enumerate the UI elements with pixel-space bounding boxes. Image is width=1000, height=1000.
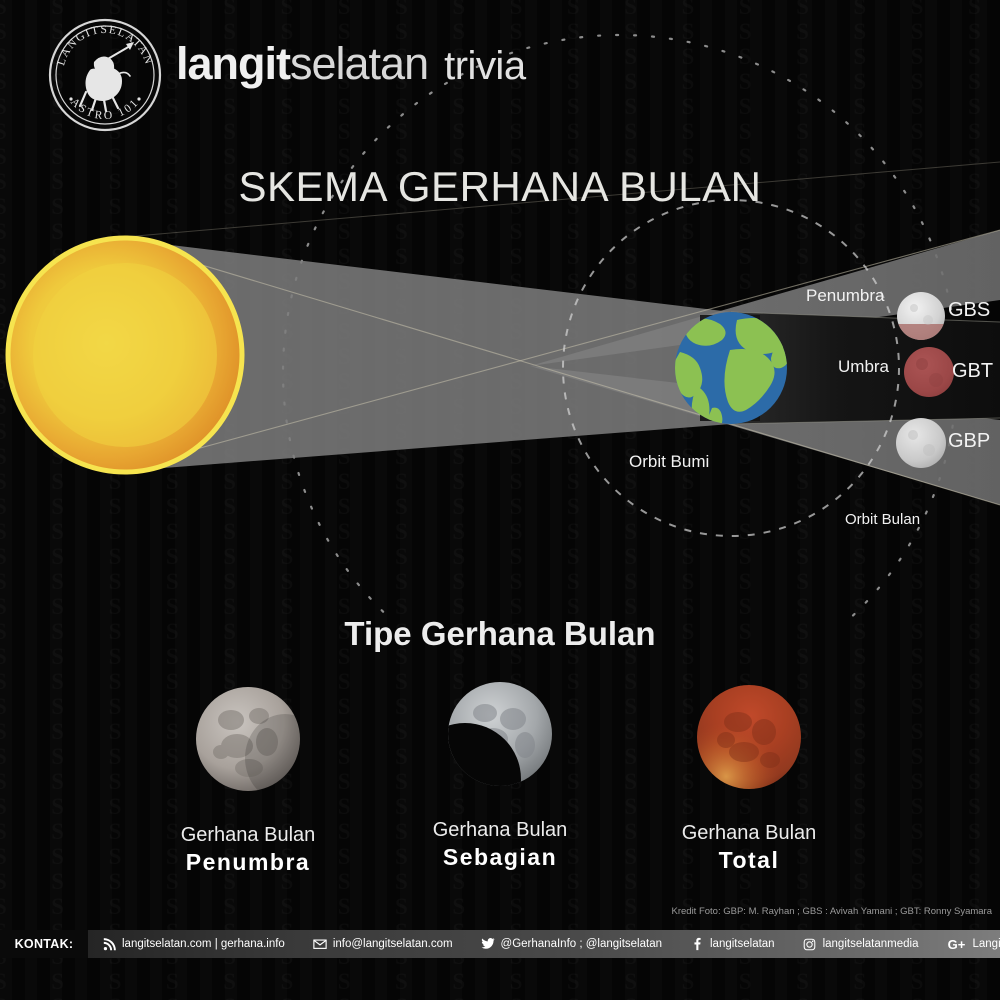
envelope-icon (313, 937, 327, 951)
label-gbs: GBS (948, 299, 990, 322)
rss-icon (102, 937, 116, 951)
centaur-icon (80, 42, 134, 111)
moon-gbp (896, 418, 946, 468)
label-gbp: GBP (948, 430, 990, 453)
infographic-page: S S S S S S S S S S S S S S S S S S S S … (0, 0, 1000, 1000)
footer-item-instagram[interactable]: langitselatanmedia (789, 930, 933, 958)
langitselatan-seal-logo: LANGITSELATAN ASTRO 101 (46, 16, 164, 134)
sun (8, 238, 242, 472)
card-caption-bottom: Sebagian (385, 844, 615, 871)
moon-gbt (904, 347, 954, 397)
footer-item-website[interactable]: langitselatan.com | gerhana.info (88, 930, 299, 958)
kontak-label: KONTAK: (0, 930, 88, 958)
label-orbit-bumi: Orbit Bumi (629, 452, 709, 472)
label-orbit-bulan: Orbit Bulan (845, 511, 920, 528)
card-caption-bottom: Penumbra (133, 849, 363, 876)
label-gbt: GBT (952, 360, 993, 383)
brand-bold: langit (176, 38, 290, 89)
card-caption-bottom: Total (634, 847, 864, 874)
moon-partial-photo (441, 675, 559, 793)
footer-item-text: @GerhanaInfo ; @langitselatan (501, 938, 662, 950)
brand-wordmark: langitselatantrivia (176, 38, 526, 90)
card-caption-top: Gerhana Bulan (133, 824, 363, 847)
header: LANGITSELATAN ASTRO 101 langitselatantr (0, 0, 1000, 140)
footer-item-email[interactable]: info@langitselatan.com (299, 930, 467, 958)
section-title-eclipse-types: Tipe Gerhana Bulan (0, 615, 1000, 653)
footer-item-text: langitselatan (710, 938, 775, 950)
eclipse-type-card-partial: Gerhana Bulan Sebagian (385, 675, 615, 871)
card-caption-top: Gerhana Bulan (385, 819, 615, 842)
watermark-row: S S S S S S S S S S S S S S S S S S S S … (0, 969, 1000, 994)
footer-item-text: LangitselatanMedia (972, 938, 1000, 950)
googleplus-icon: G+ (946, 937, 966, 951)
eclipse-type-card-penumbral: Gerhana Bulan Penumbra (133, 680, 363, 876)
page-title: SKEMA GERHANA BULAN (0, 163, 1000, 211)
contact-footer-bar: KONTAK: langitselatan.com | gerhana.info… (0, 930, 1000, 958)
eclipse-type-card-total: Gerhana Bulan Total (634, 678, 864, 874)
footer-item-googleplus[interactable]: G+ LangitselatanMedia (932, 930, 1000, 958)
twitter-icon (481, 937, 495, 951)
brand-light: selatan (290, 38, 428, 89)
label-umbra: Umbra (838, 357, 889, 377)
footer-item-text: langitselatanmedia (823, 938, 919, 950)
moon-total-photo (690, 678, 808, 796)
watermark-row: S S S S S S S S S S S S S S S S S S S S … (0, 994, 1000, 1000)
footer-item-facebook[interactable]: langitselatan (676, 930, 789, 958)
brand-section: trivia (444, 44, 525, 88)
moon-penumbral-photo (189, 680, 307, 798)
photo-credit: Kredit Foto: GBP: M. Rayhan ; GBS : Aviv… (672, 906, 993, 917)
instagram-icon (803, 937, 817, 951)
footer-item-text: langitselatan.com | gerhana.info (122, 938, 285, 950)
card-caption-top: Gerhana Bulan (634, 822, 864, 845)
label-penumbra: Penumbra (806, 286, 884, 306)
facebook-icon (690, 937, 704, 951)
footer-item-text: info@langitselatan.com (333, 938, 453, 950)
footer-item-twitter[interactable]: @GerhanaInfo ; @langitselatan (467, 930, 676, 958)
